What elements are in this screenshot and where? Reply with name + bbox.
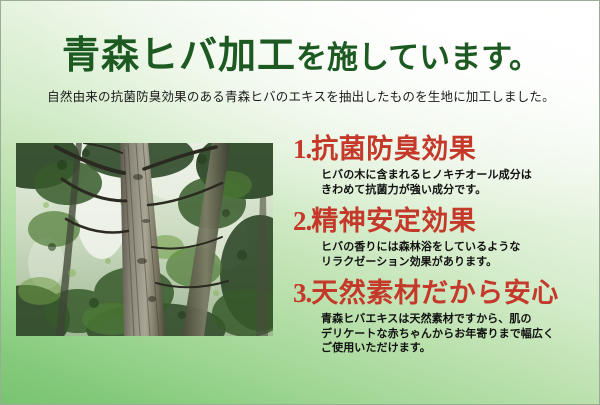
feature-number-3: 3. xyxy=(293,278,311,308)
feature-heading-1: 1.抗菌防臭効果 xyxy=(293,134,593,165)
feature-body-line: ヒバの木に含まれるヒノキチオール成分は xyxy=(321,168,593,183)
feature-body-2: ヒバの香りには森林浴をしているような リラクゼーション効果があります。 xyxy=(321,240,593,269)
feature-body-line: リラクゼーション効果があります。 xyxy=(321,255,593,270)
feature-heading-3: 3.天然素材だから安心 xyxy=(293,278,593,309)
banner-content: 青森ヒバ加工を施しています。 自然由来の抗菌防臭効果のある青森ヒバのエキスを抽出… xyxy=(1,1,599,404)
forest-photo-illustration xyxy=(16,143,273,336)
page-title: 青森ヒバ加工を施しています。 xyxy=(1,34,600,80)
hiba-tree-photo xyxy=(16,143,273,336)
feature-body-line: デリケートな赤ちゃんからお年寄りまで幅広く xyxy=(321,327,593,342)
feature-heading-2: 2.精神安定効果 xyxy=(293,206,593,237)
feature-list: 1.抗菌防臭効果 ヒバの木に含まれるヒノキチオール成分は きわめて抗菌力が強い成… xyxy=(293,134,593,365)
feature-number-1: 1. xyxy=(293,134,311,164)
subtitle: 自然由来の抗菌防臭効果のある青森ヒバのエキスを抽出したものを生地に加工しました。 xyxy=(1,89,600,106)
promo-banner: 青森ヒバ加工を施しています。 自然由来の抗菌防臭効果のある青森ヒバのエキスを抽出… xyxy=(0,0,600,405)
feature-body-3: 青森ヒバエキスは天然素材ですから、肌の デリケートな赤ちゃんからお年寄りまで幅広… xyxy=(321,312,593,356)
feature-body-line: ご使用いただけます。 xyxy=(321,341,593,356)
feature-body-line: ヒバの香りには森林浴をしているような xyxy=(321,240,593,255)
feature-body-1: ヒバの木に含まれるヒノキチオール成分は きわめて抗菌力が強い成分です。 xyxy=(321,168,593,197)
feature-body-line: きわめて抗菌力が強い成分です。 xyxy=(321,183,593,198)
feature-item-1: 1.抗菌防臭効果 ヒバの木に含まれるヒノキチオール成分は きわめて抗菌力が強い成… xyxy=(293,134,593,197)
headline-tail: を施しています。 xyxy=(296,40,540,75)
feature-title-2: 精神安定効果 xyxy=(311,206,476,236)
feature-body-line: 青森ヒバエキスは天然素材ですから、肌の xyxy=(321,312,593,327)
feature-item-3: 3.天然素材だから安心 青森ヒバエキスは天然素材ですから、肌の デリケートな赤ち… xyxy=(293,278,593,356)
headline-main: 青森ヒバ加工 xyxy=(62,35,296,77)
feature-number-2: 2. xyxy=(293,206,311,236)
feature-title-3: 天然素材だから安心 xyxy=(311,278,559,308)
feature-title-1: 抗菌防臭効果 xyxy=(311,134,476,164)
feature-item-2: 2.精神安定効果 ヒバの香りには森林浴をしているような リラクゼーション効果があ… xyxy=(293,206,593,269)
